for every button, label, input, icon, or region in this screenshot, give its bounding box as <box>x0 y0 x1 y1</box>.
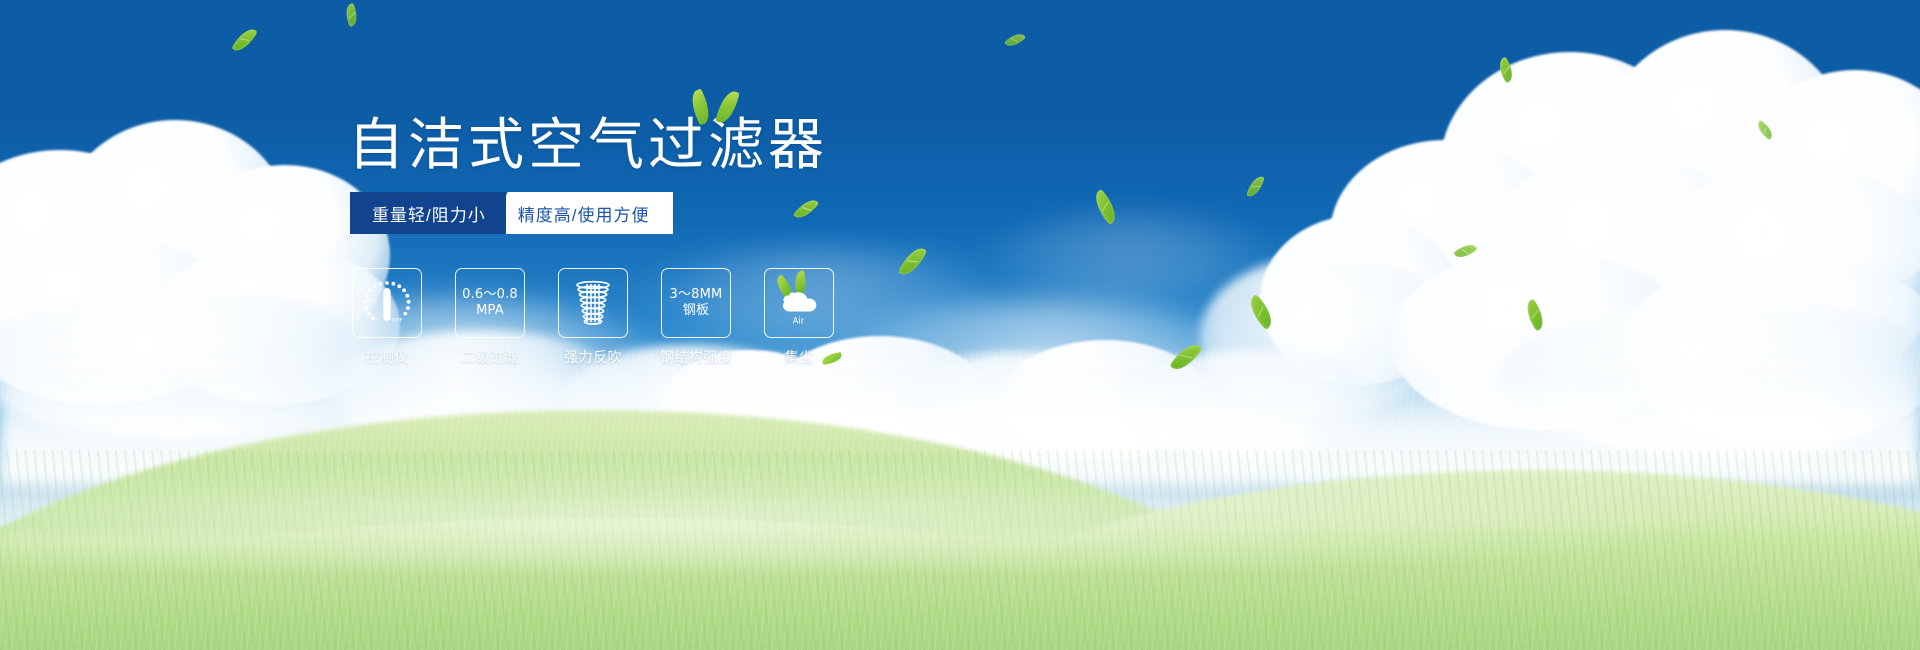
gauge-dial-icon: NO OFF <box>359 275 415 331</box>
feature-label: 钢结构强度 <box>660 347 733 367</box>
cloud-air-icon: Air <box>771 275 827 331</box>
svg-text:Air: Air <box>793 317 805 327</box>
pressure-text-icon: 0.6～0.8 MPA <box>462 287 518 320</box>
feature-label: 集尘 <box>785 347 814 367</box>
badge-primary: 重量轻/阻力小 <box>350 192 506 234</box>
coil-spring-icon <box>565 275 621 331</box>
svg-text:OFF: OFF <box>392 318 402 324</box>
pressure-line-1: 0.6～0.8 <box>462 287 518 303</box>
svg-text:NO: NO <box>368 299 378 306</box>
badge-group: 重量轻/阻力小 精度高/使用方便 <box>350 192 673 234</box>
pressure-line-2: MPA <box>462 303 518 319</box>
page-title: 自洁式空气过滤器 <box>348 118 828 174</box>
title-block: 自洁式空气过滤器 <box>348 118 828 174</box>
title-leaf-pair <box>693 90 753 126</box>
feature-label: 控制仪 <box>365 347 409 367</box>
badge-secondary: 精度高/使用方便 <box>488 192 674 234</box>
steel-plate-text-icon: 3～8MM 钢板 <box>670 287 723 320</box>
feature-icon-box: NO OFF <box>352 268 422 338</box>
feature-icon-box: 3～8MM 钢板 <box>661 268 731 338</box>
banner-content: 自洁式空气过滤器 重量轻/阻力小 精度高/使用方便 <box>0 0 1920 650</box>
product-banner: 自洁式空气过滤器 重量轻/阻力小 精度高/使用方便 <box>0 0 1920 650</box>
feature-list: NO OFF 控制仪 0.6～0.8 MPA 二级过滤 <box>352 268 834 367</box>
feature-item: 0.6～0.8 MPA 二级过滤 <box>455 268 525 367</box>
leaf-icon <box>821 352 842 365</box>
feature-icon-box <box>558 268 628 338</box>
feature-item: 强力反吹 <box>558 268 628 367</box>
leaf-icon <box>715 89 740 126</box>
feature-label: 强力反吹 <box>564 347 622 367</box>
feature-item: 3～8MM 钢板 钢结构强度 <box>661 268 731 367</box>
steel-line-2: 钢板 <box>670 303 723 319</box>
feature-icon-box: Air <box>764 268 834 338</box>
feature-item: Air 集尘 <box>764 268 834 367</box>
feature-icon-box: 0.6～0.8 MPA <box>455 268 525 338</box>
steel-line-1: 3～8MM <box>670 287 723 303</box>
feature-label: 二级过滤 <box>461 347 519 367</box>
feature-item: NO OFF 控制仪 <box>352 268 422 367</box>
